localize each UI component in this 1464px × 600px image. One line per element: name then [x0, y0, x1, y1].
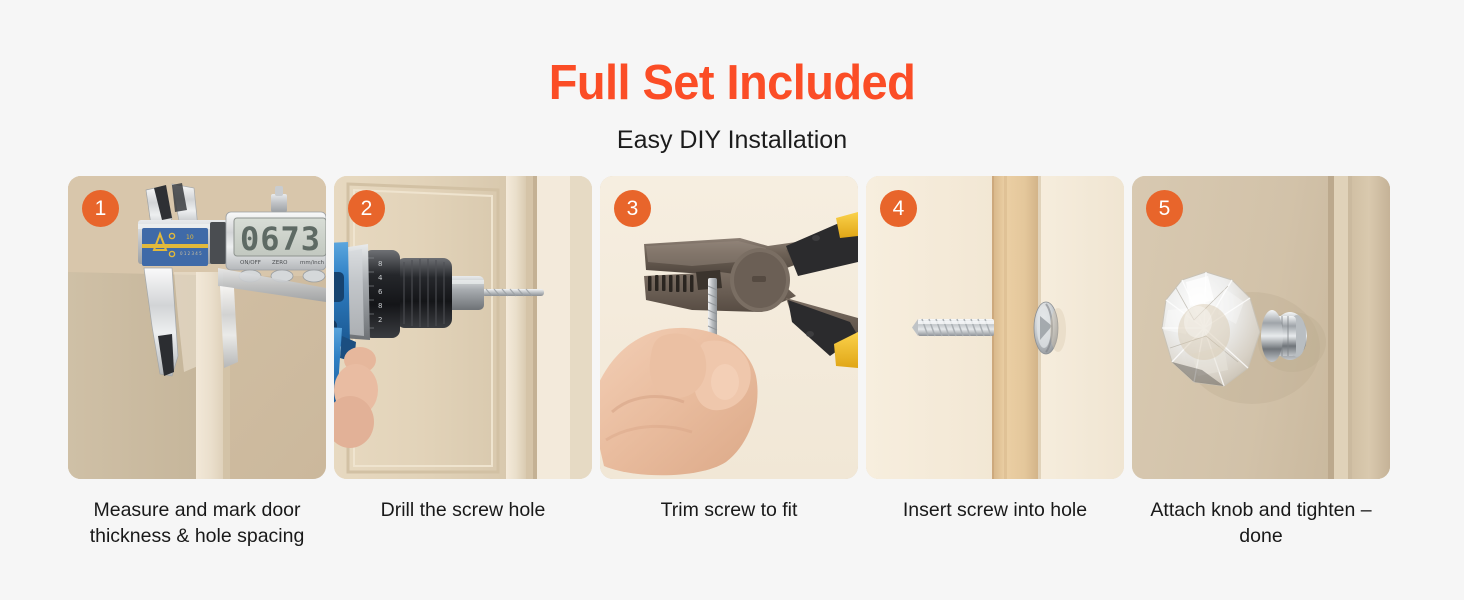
step-badge-2: 2 [348, 190, 385, 227]
step-caption-2: Drill the screw hole [338, 498, 588, 524]
svg-text:2: 2 [378, 316, 382, 324]
step-photo-2: 84 68 2 [334, 176, 592, 479]
svg-text:10: 10 [186, 234, 194, 241]
step-caption-5: Attach knob and tighten – done [1136, 498, 1386, 549]
step-badge-3: 3 [614, 190, 651, 227]
step-caption-3: Trim screw to fit [604, 498, 854, 524]
installation-steps-row: 10 0 1 2 3 4 5 0673 ON/OFF ZERO mm/inch [68, 176, 1396, 549]
step-photo-1: 10 0 1 2 3 4 5 0673 ON/OFF ZERO mm/inch [68, 176, 326, 479]
step-card-3: 3 Trim screw to fit [600, 176, 858, 549]
step-badge-1: 1 [82, 190, 119, 227]
svg-text:mm/inch: mm/inch [300, 260, 325, 266]
step-caption-4: Insert screw into hole [870, 498, 1120, 524]
svg-text:0 1 2 3 4 5: 0 1 2 3 4 5 [180, 251, 202, 256]
step-photo-4: 4 [866, 176, 1124, 479]
step-badge-4: 4 [880, 190, 917, 227]
header: Full Set Included Easy DIY Installation [0, 0, 1464, 155]
page-title: Full Set Included [29, 58, 1434, 109]
svg-text:ON/OFF: ON/OFF [240, 260, 261, 266]
step-photo-3: 3 [600, 176, 858, 479]
step-card-4: 4 Insert screw into hole [866, 176, 1124, 549]
step-card-1: 10 0 1 2 3 4 5 0673 ON/OFF ZERO mm/inch [68, 176, 326, 549]
svg-text:4: 4 [378, 274, 383, 282]
step-caption-1: Measure and mark door thickness & hole s… [72, 498, 322, 549]
svg-text:8: 8 [378, 302, 382, 310]
step-badge-5: 5 [1146, 190, 1183, 227]
svg-text:0673: 0673 [240, 220, 321, 258]
step-photo-5: 5 [1132, 176, 1390, 479]
promo-banner: Full Set Included Easy DIY Installation [0, 0, 1464, 600]
page-subtitle: Easy DIY Installation [0, 125, 1464, 155]
svg-text:8: 8 [378, 260, 382, 268]
svg-text:6: 6 [378, 288, 383, 296]
step-card-2: 84 68 2 [334, 176, 592, 549]
svg-text:ZERO: ZERO [272, 260, 288, 266]
step-card-5: 5 Attach knob and tighten – done [1132, 176, 1390, 549]
